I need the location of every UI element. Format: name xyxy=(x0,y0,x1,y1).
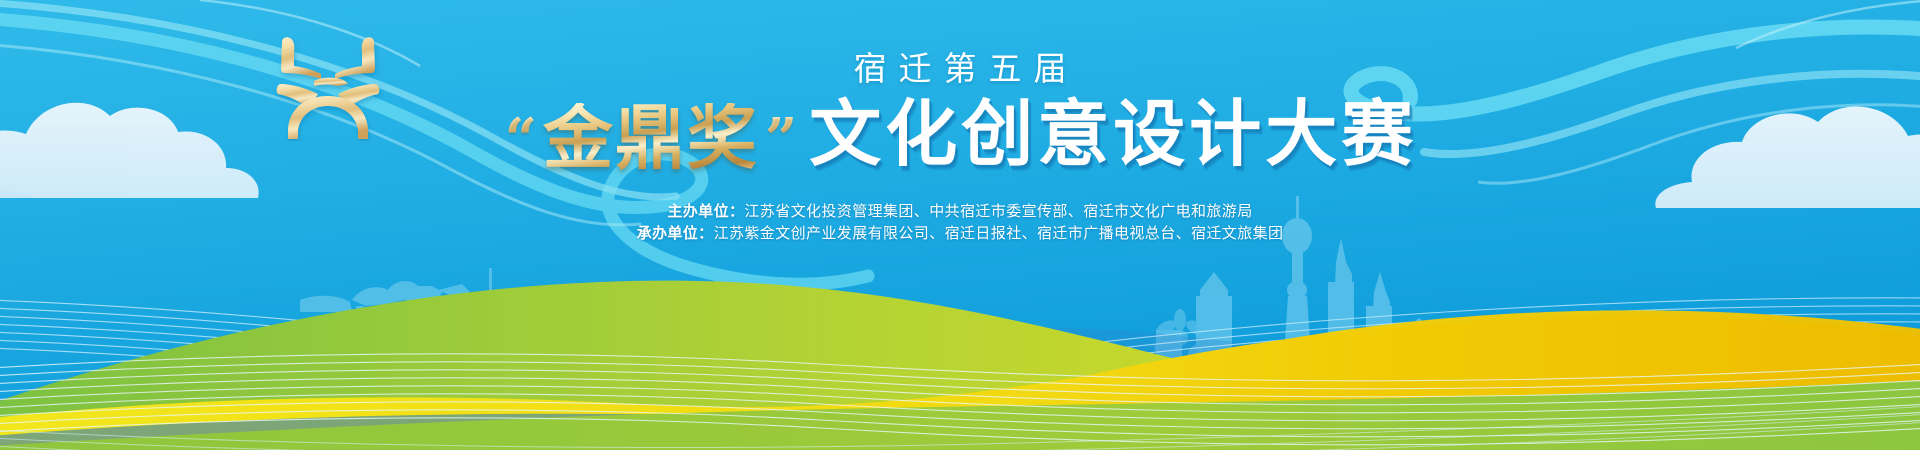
event-banner: 宿迁第五届 “ 金鼎奖 ” 文化创意设计大赛 主办单位：江苏省文化投资管理集团、… xyxy=(0,0,1920,450)
ding-tripod-emblem xyxy=(268,26,388,141)
